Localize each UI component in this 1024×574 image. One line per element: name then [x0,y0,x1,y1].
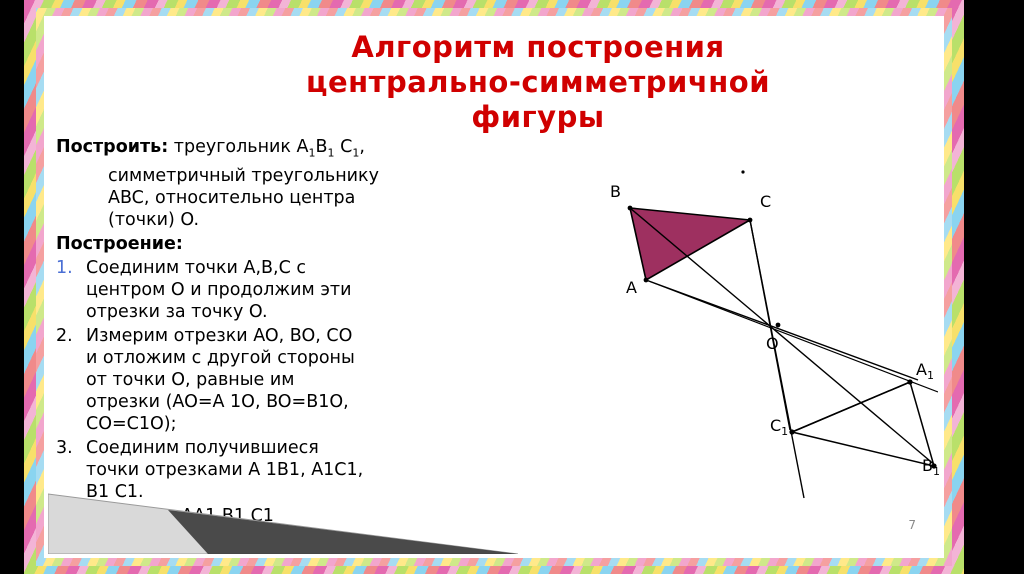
step-4-line-1: Получили ΔA1 B1 C1 [86,505,526,527]
label-c1-sub: 1 [781,425,788,438]
task-text-c: C [335,137,353,157]
step-2-line-2: и отложим с другой стороны [86,347,526,369]
slide-root: Алгоритм построения центрально-симметрич… [0,0,1024,574]
task-line-4: (точки) O. [108,209,526,231]
task-label: Построить: [56,137,168,157]
task-line-2: симметричный треугольнику [108,165,526,187]
segment-c1-a1 [792,382,910,432]
task-sub-2: 1 [328,147,335,160]
step-2-line-1: Измерим отрезки AO, BO, CO [86,325,526,347]
step-2-line-4: отрезки (AO=A 1O, BO=B1O, [86,391,526,413]
ray-a-o-a1 [646,280,918,380]
line-a-extended [646,280,938,392]
point-c1 [789,429,794,434]
label-c1: C1 [770,416,788,438]
step-2-line-5: CO=C1O); [86,413,526,435]
stray-dot [741,170,744,173]
step-2-text: Измерим отрезки AO, BO, CO и отложим с д… [86,325,526,435]
point-c [748,218,753,223]
step-3-line-1: Соединим получившиеся [86,437,526,459]
line-c-extended [750,220,804,498]
label-c1-letter: C [770,416,781,435]
page-number: 7 [908,518,916,532]
task-sub-1: 1 [309,147,316,160]
step-2: 2. Измерим отрезки AO, BO, CO и отложим … [56,325,526,435]
step-3-number: 3. [56,437,86,503]
step-1-line-1: Соединим точки A,B,C с [86,257,526,279]
label-a1-sub: 1 [927,369,934,382]
step-3-line-2: точки отрезками A 1B1, A1C1, [86,459,526,481]
step-4-line-2: симметричный ΔABC. [86,527,526,549]
step-3-line-3: B1 C1. [86,481,526,503]
label-b1: B1 [922,456,940,478]
point-a [644,278,649,283]
step-2-number: 2. [56,325,86,435]
geometry-figure: B C A O A1 C1 B1 [518,130,938,520]
page-title: Алгоритм построения центрально-симметрич… [178,30,898,135]
label-o: O [766,334,779,353]
task-text-a: треугольник A [168,137,308,157]
triangle-a1b1c1 [792,382,934,466]
label-b: B [610,182,621,201]
task-paragraph: Построить: треугольник A1B1 C1, [56,136,526,165]
label-b1-sub: 1 [933,465,940,478]
step-1-line-3: отрезки за точку O. [86,301,526,323]
build-label: Построение: [56,233,526,255]
step-3-text: Соединим получившиеся точки отрезками A … [86,437,526,503]
slide-canvas: Алгоритм построения центрально-симметрич… [48,20,940,554]
label-c: C [760,192,771,211]
step-3: 3. Соединим получившиеся точки отрезками… [56,437,526,503]
step-4: 4. Получили ΔA1 B1 C1 симметричный ΔABC. [56,505,526,549]
label-a: A [626,278,637,297]
title-line-2: центрально-симметричной [178,65,898,100]
label-b1-letter: B [922,456,933,475]
step-1-line-2: центром O и продолжим эти [86,279,526,301]
step-4-text: Получили ΔA1 B1 C1 симметричный ΔABC. [86,505,526,549]
task-text-d: , [359,137,365,157]
body-text: Построить: треугольник A1B1 C1, симметри… [56,136,526,549]
label-a1: A1 [916,360,934,382]
task-text-b: B [316,137,328,157]
step-1: 1. Соединим точки A,B,C с центром O и пр… [56,257,526,323]
step-4-number: 4. [56,505,86,549]
title-line-1: Алгоритм построения [178,30,898,65]
step-1-text: Соединим точки A,B,C с центром O и продо… [86,257,526,323]
task-line-3: ABC, относительно центра [108,187,526,209]
point-b [628,206,633,211]
label-a1-letter: A [916,360,927,379]
geometry-svg [518,130,938,520]
point-a1 [907,379,912,384]
step-2-line-3: от точки O, равные им [86,369,526,391]
triangle-abc [630,208,750,280]
step-1-number: 1. [56,257,86,323]
point-o [776,323,781,328]
